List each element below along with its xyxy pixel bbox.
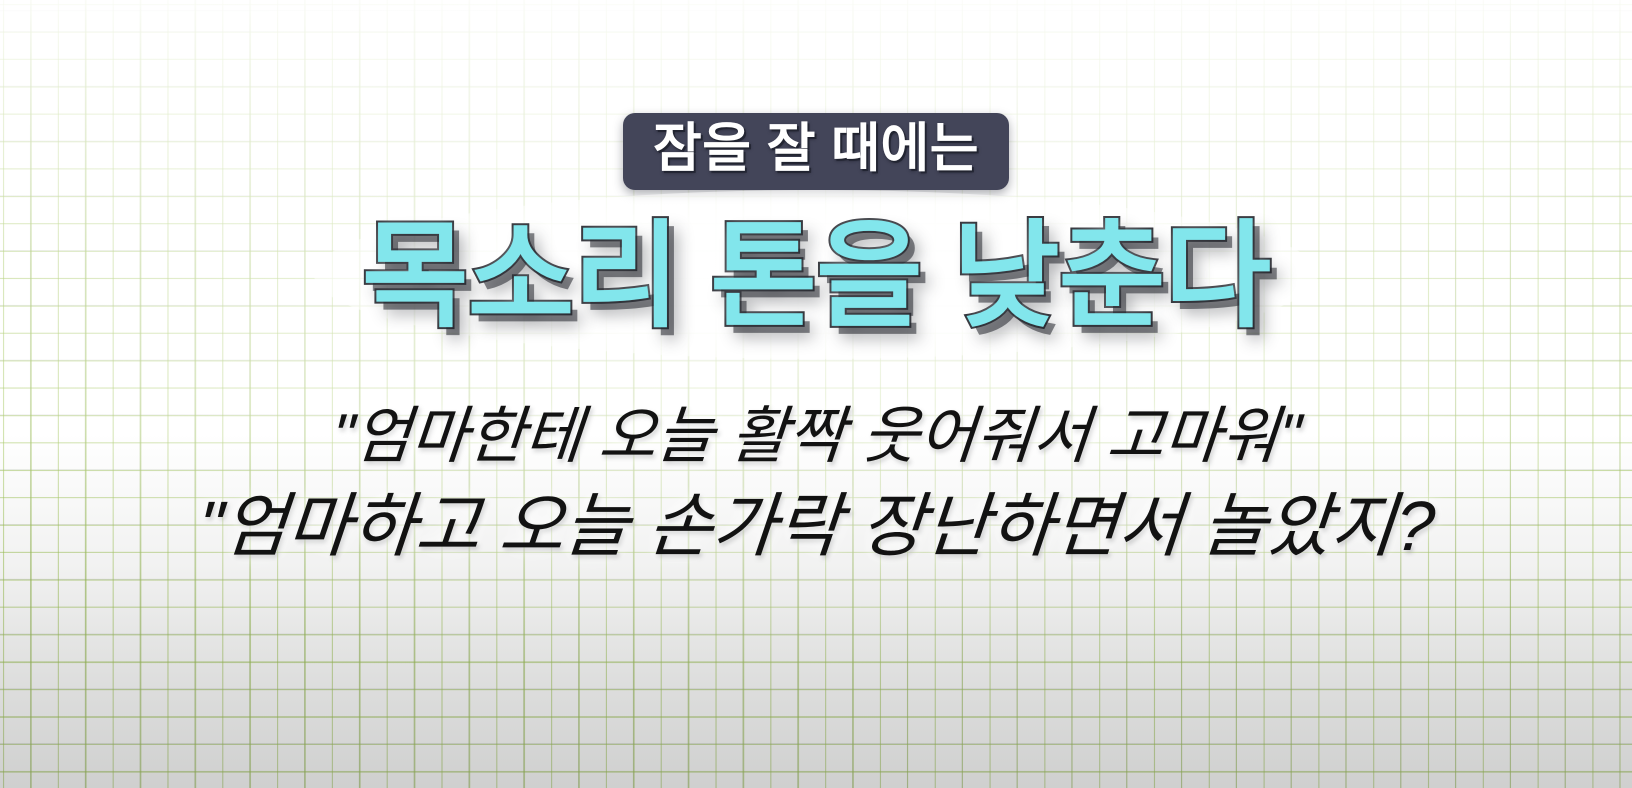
headline-wrapper: 목소리 톤을 낮춘다 (362, 208, 1270, 345)
quote-block: "엄마한테 오늘 활짝 웃어줘서 고마워" "엄마하고 오늘 손가락 장난하면서… (0, 404, 1632, 565)
eyebrow-badge-label: 잠을 잘 때에는 (653, 122, 979, 177)
headline-title: 목소리 톤을 낮춘다 (362, 208, 1270, 345)
video-caption-frame: 잠을 잘 때에는 목소리 톤을 낮춘다 "엄마한테 오늘 활짝 웃어줘서 고마워… (0, 0, 1632, 788)
quote-line-1: "엄마한테 오늘 활짝 웃어줘서 고마워" (329, 404, 1303, 471)
eyebrow-badge: 잠을 잘 때에는 (623, 113, 1009, 190)
quote-line-2: "엄마하고 오늘 손가락 장난하면서 놀았지? (195, 489, 1438, 565)
eyebrow-badge-row: 잠을 잘 때에는 (0, 113, 1632, 190)
caption-content: 잠을 잘 때에는 목소리 톤을 낮춘다 "엄마한테 오늘 활짝 웃어줘서 고마워… (0, 0, 1632, 788)
headline-row: 목소리 톤을 낮춘다 (0, 208, 1632, 345)
